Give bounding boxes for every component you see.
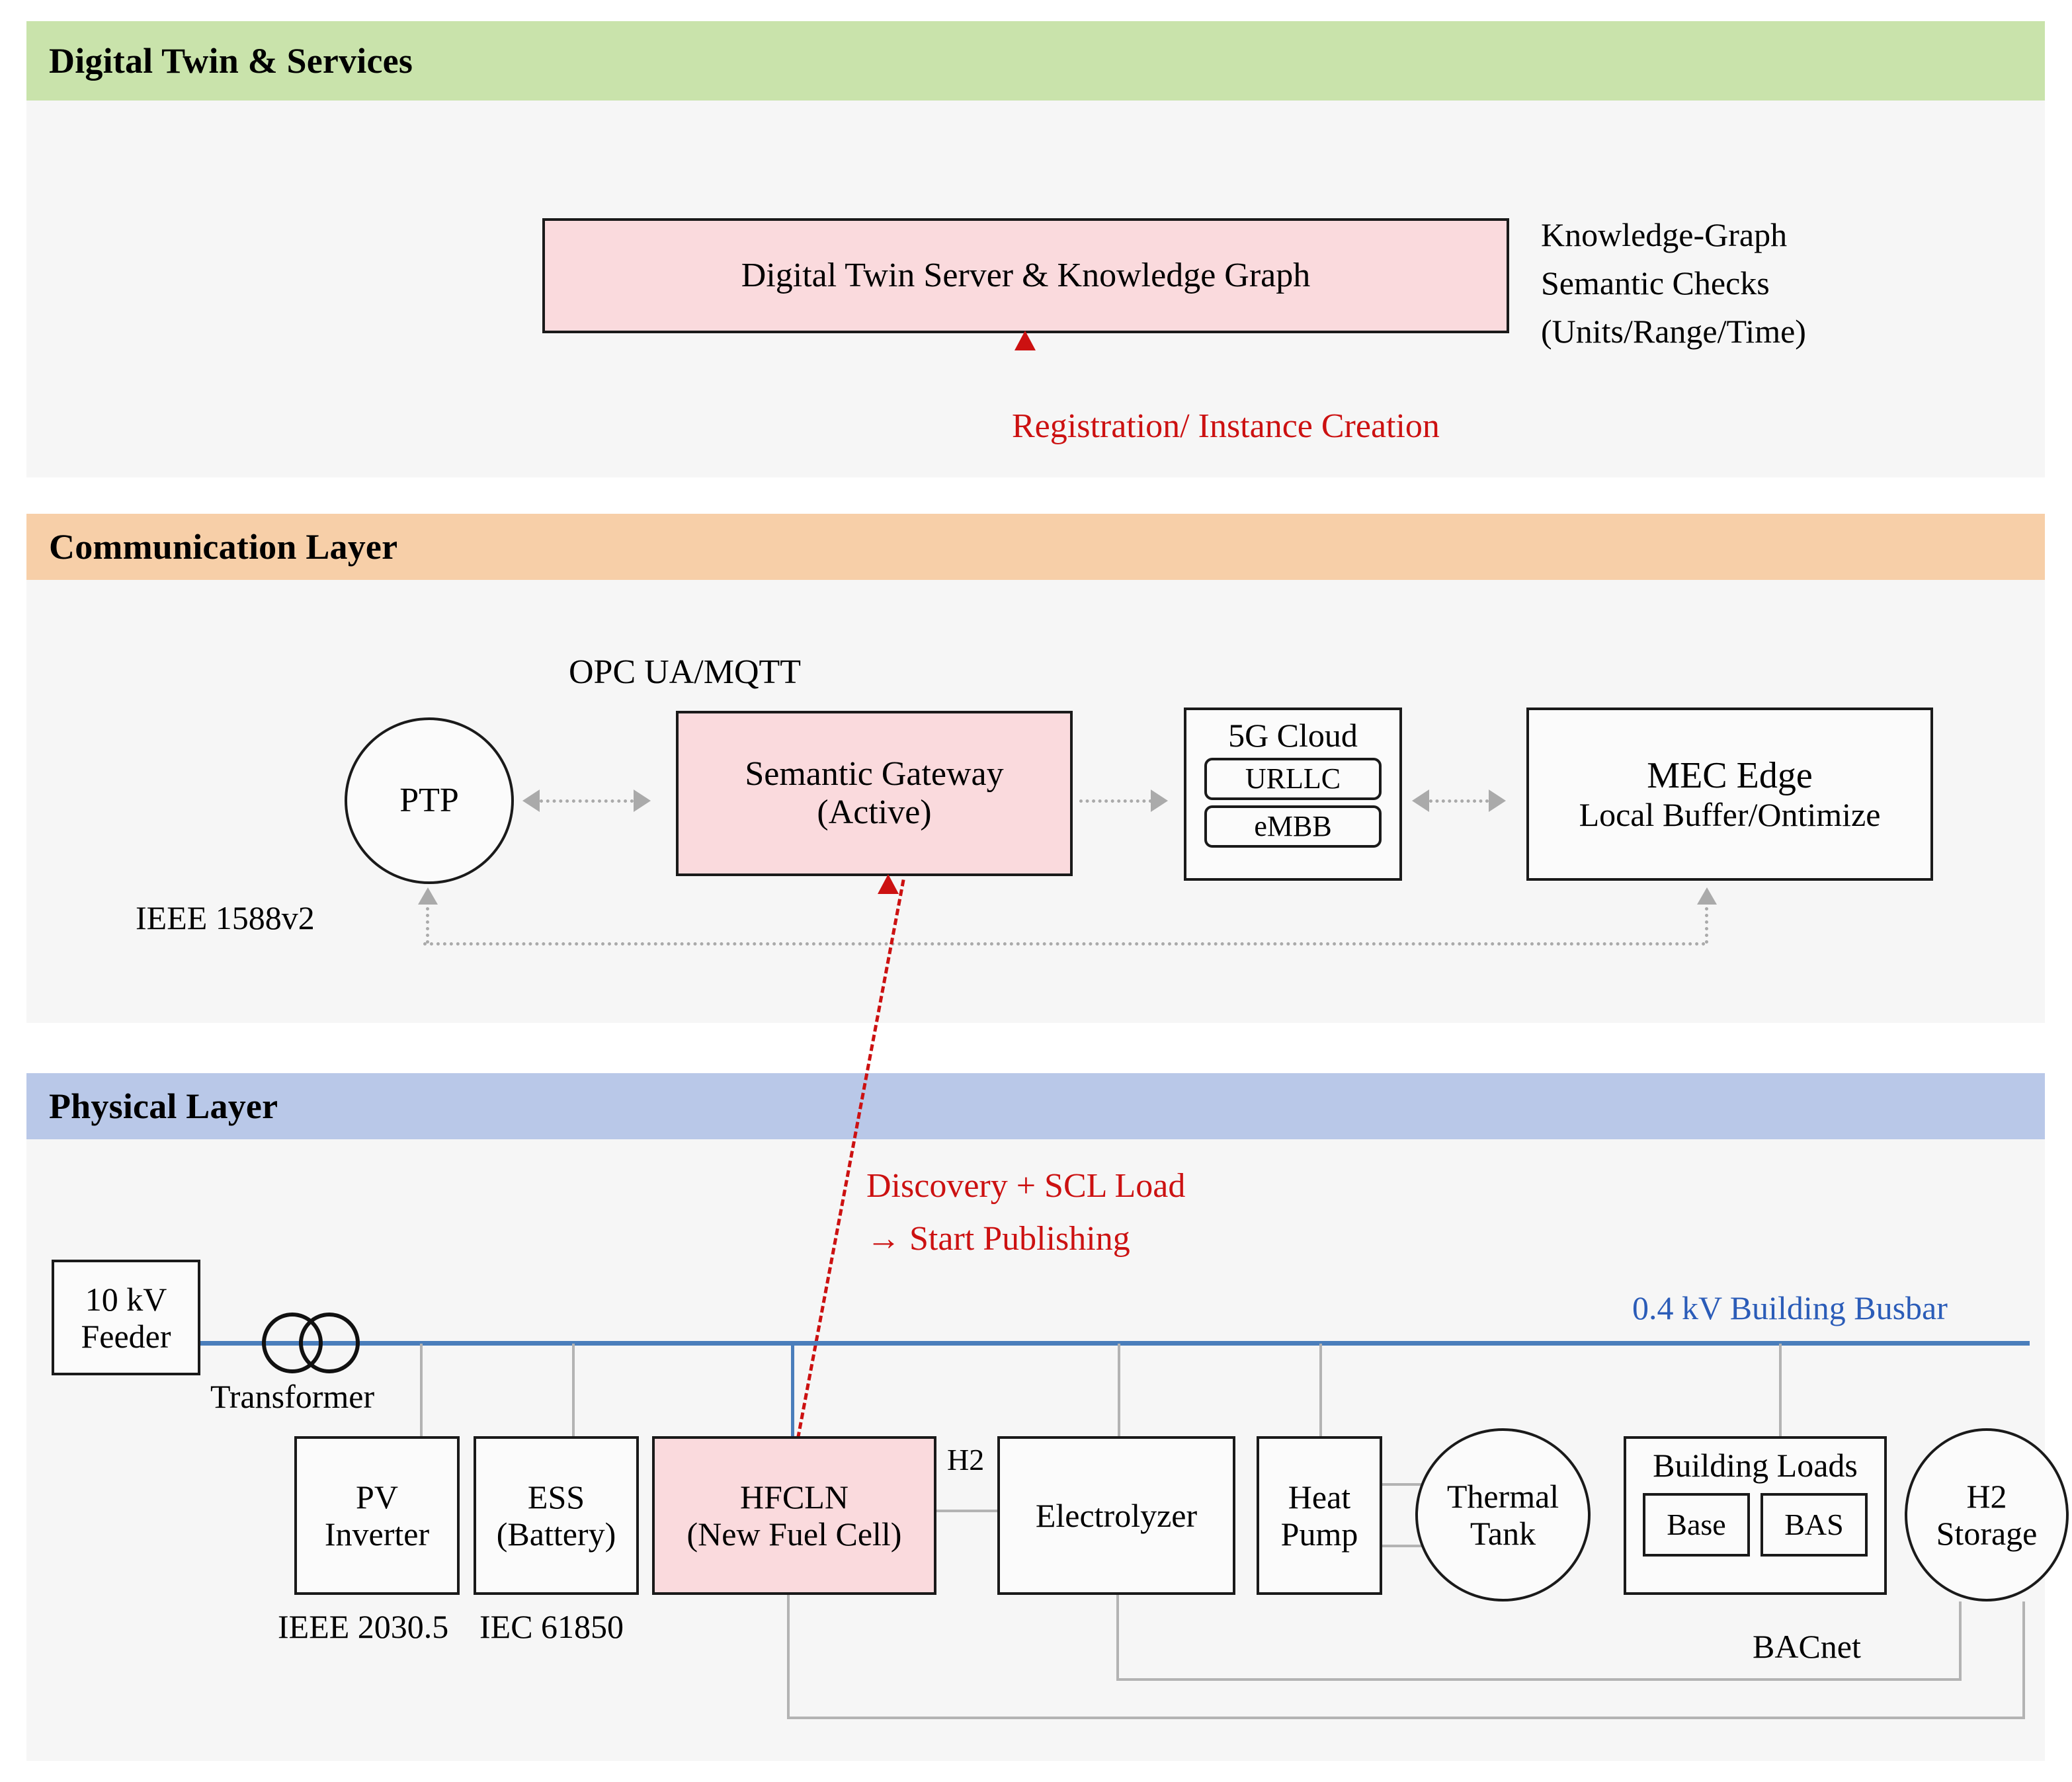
semantic-gateway-node[interactable]: Semantic Gateway (Active) [676,711,1073,876]
cloud-mec-arrow-right [1489,790,1506,812]
device-pv-inverter-line2: Inverter [325,1516,429,1553]
h2-storage-drop-a [1959,1601,1962,1680]
device-hfcln[interactable]: HFCLN (New Fuel Cell) [652,1436,936,1595]
busbar-label: 0.4 kV Building Busbar [1632,1288,1948,1328]
busbar-line [200,1341,2030,1346]
device-ess-battery-line1: ESS [528,1478,585,1516]
layer-band-digital-twin: Digital Twin & Services [26,21,2045,101]
hfcln-bottom-drop [787,1595,790,1719]
ptp-label: PTP [399,782,459,820]
feeder-node[interactable]: 10 kV Feeder [52,1260,200,1375]
digital-twin-server-label: Digital Twin Server & Knowledge Graph [741,257,1310,295]
device-ess-battery-line2: (Battery) [497,1516,616,1553]
electrolyzer-bottom-drop [1116,1595,1119,1681]
riser-building-loads [1779,1344,1782,1436]
h2-link-label: H2 [947,1441,984,1478]
heatpump-tank-connector-bottom [1382,1545,1422,1547]
layer-band-physical: Physical Layer [26,1073,2045,1139]
device-pv-inverter-line1: PV [356,1478,398,1516]
device-ess-battery[interactable]: ESS (Battery) [474,1436,639,1595]
standard-iec-61850: IEC 61850 [479,1607,624,1647]
building-loads-title: Building Loads [1653,1447,1858,1484]
h2-storage-node[interactable]: H2 Storage [1905,1428,2069,1601]
discovery-flow-label-line2: → Start Publishing [866,1218,1130,1260]
diagram-canvas: Digital Twin & Services Digital Twin Ser… [0,0,2072,1782]
digital-twin-server-box[interactable]: Digital Twin Server & Knowledge Graph [542,218,1509,333]
slice-urllc-label: URLLC [1245,762,1341,795]
riser-heat-pump [1319,1344,1322,1436]
semantic-gateway-label-line2: (Active) [817,793,931,832]
mec-edge-label-line2: Local Buffer/Ontimize [1579,796,1881,833]
slice-embb-label: eMBB [1254,810,1331,842]
building-loads-node[interactable]: Building Loads Base BAS [1624,1436,1887,1595]
knowledge-graph-note-line2: Semantic Checks [1541,263,1770,304]
device-electrolyzer-line1: Electrolyzer [1036,1497,1197,1534]
layer-band-communication: Communication Layer [26,514,2045,580]
standard-ieee-2030-5: IEEE 2030.5 [278,1607,448,1647]
electrolyzer-h2-bus [1116,1678,1962,1681]
discovery-flow-arrowhead [878,874,899,894]
layer-title-digital-twin: Digital Twin & Services [26,40,413,81]
hfcln-h2-bus [787,1717,2025,1719]
building-load-bas[interactable]: BAS [1761,1493,1868,1557]
ptp-sync-riser [426,907,429,944]
device-heat-pump[interactable]: Heat Pump [1257,1436,1382,1595]
five-g-cloud-node[interactable]: 5G Cloud URLLC eMBB [1184,708,1402,881]
discovery-flow-label-line1: Discovery + SCL Load [866,1165,1185,1207]
ptp-sync-arrow [418,887,438,905]
riser-ess [572,1344,575,1436]
slice-urllc[interactable]: URLLC [1204,758,1382,800]
device-pv-inverter[interactable]: PV Inverter [294,1436,460,1595]
mec-edge-node[interactable]: MEC Edge Local Buffer/Ontimize [1526,708,1933,881]
h2-storage-drop-b [2022,1601,2025,1719]
slice-embb[interactable]: eMBB [1204,805,1382,848]
building-load-bas-label: BAS [1784,1508,1843,1542]
ptp-gateway-connector [540,799,634,803]
five-g-cloud-title: 5G Cloud [1228,717,1358,754]
mec-sync-riser [1705,907,1708,944]
gateway-cloud-arrow-right [1151,790,1168,812]
knowledge-graph-note-line3: (Units/Range/Time) [1541,311,1806,352]
thermal-tank-line2: Tank [1470,1515,1536,1552]
layer-title-physical: Physical Layer [26,1086,278,1127]
registration-flow-arrowhead [1015,331,1036,350]
cloud-mec-arrow-left [1412,790,1429,812]
ieee-1588v2-label: IEEE 1588v2 [136,898,315,938]
ptp-sync-bus [423,942,1706,946]
device-hfcln-line2: (New Fuel Cell) [687,1516,902,1553]
h2-storage-line2: Storage [1936,1515,2038,1552]
ptp-gateway-arrow-left [522,790,540,812]
opc-ua-mqtt-label: OPC UA/MQTT [569,651,801,693]
cloud-mec-connector [1429,799,1489,803]
transformer-coil-right [299,1313,360,1373]
thermal-tank-line1: Thermal [1447,1478,1559,1515]
heatpump-tank-connector-top [1382,1483,1422,1486]
semantic-gateway-label-line1: Semantic Gateway [745,755,1003,793]
thermal-tank-node[interactable]: Thermal Tank [1415,1428,1591,1601]
device-electrolyzer[interactable]: Electrolyzer [997,1436,1235,1595]
registration-flow-label: Registration/ Instance Creation [1012,405,1440,447]
building-load-base[interactable]: Base [1643,1493,1750,1557]
h2-storage-line1: H2 [1966,1478,2007,1515]
hfcln-electrolyzer-connector [936,1510,997,1512]
device-hfcln-line1: HFCLN [740,1478,849,1516]
layer-title-communication: Communication Layer [26,526,397,567]
feeder-label-line1: 10 kV [85,1281,167,1318]
mec-edge-label-line1: MEC Edge [1647,755,1812,797]
riser-electrolyzer [1118,1344,1120,1436]
ptp-gateway-arrow-right [634,790,651,812]
riser-pv [420,1344,423,1436]
feeder-label-line2: Feeder [81,1318,171,1355]
ptp-node[interactable]: PTP [345,717,514,884]
device-heat-pump-line1: Heat [1288,1478,1350,1516]
standard-bacnet: BACnet [1753,1627,1861,1667]
knowledge-graph-note-line1: Knowledge-Graph [1541,215,1787,255]
gateway-cloud-connector [1079,799,1152,803]
device-heat-pump-line2: Pump [1281,1516,1358,1553]
transformer-label: Transformer [210,1377,374,1417]
building-load-base-label: Base [1667,1508,1725,1542]
riser-hfcln [791,1344,794,1436]
mec-sync-arrow [1697,887,1717,905]
